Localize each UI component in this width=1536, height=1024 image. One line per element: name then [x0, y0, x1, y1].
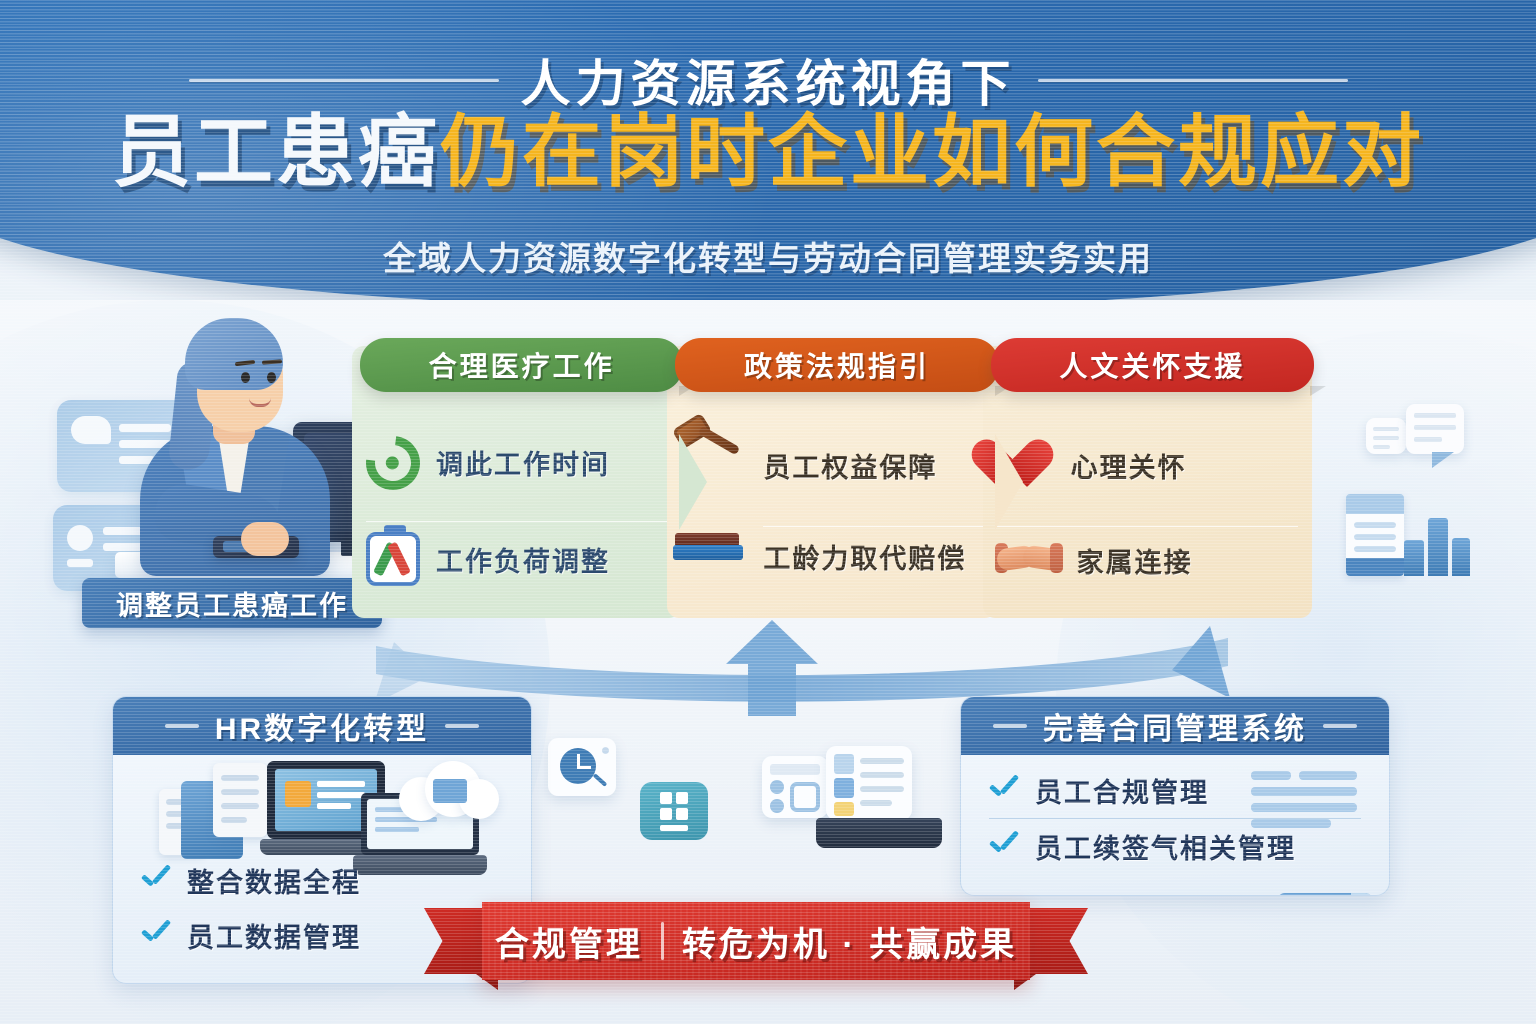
ribbon-separator: [661, 922, 664, 960]
list-item[interactable]: 整合数据全程: [141, 853, 503, 908]
card-row-label: 调此工作时间: [436, 443, 610, 482]
eyebrow-rule-left: [189, 79, 499, 82]
person-eye-right: [267, 372, 276, 383]
panel-header-right: 完善合同管理系统: [961, 697, 1389, 755]
card-title-medical: 合理医疗工作: [360, 338, 683, 392]
card-title-policy: 政策法规指引: [675, 338, 998, 392]
card-row-label: 心理关怀: [1071, 446, 1187, 485]
card-row: 工作负荷调整: [366, 521, 667, 586]
list-item[interactable]: 员工续签气相关管理: [989, 818, 1361, 874]
card-row: 家属连接: [997, 526, 1298, 583]
card-medical-work[interactable]: 合理医疗工作 调此工作时间 工作负荷调整: [352, 346, 681, 618]
ribbon-text-right: 转危为机 · 共赢成果: [682, 917, 1017, 966]
ribbon-tail-right: [1022, 908, 1088, 974]
clipboard-icon: [366, 532, 420, 586]
card-arrow-orange: [995, 434, 1023, 530]
panel-rule-left: [165, 724, 199, 728]
card-row-label: 员工权益保障: [763, 446, 937, 485]
card-arrow-green: [679, 434, 707, 530]
panel-rule-right: [1323, 724, 1357, 728]
page-subtitle: 全域人力资源数字化转型与劳动合同管理实务实用: [0, 232, 1536, 280]
card-row-label: 工作负荷调整: [436, 540, 610, 579]
card-body-policy: 员工权益保障 工龄力取代赔偿: [667, 404, 996, 618]
person-eye-left: [241, 372, 250, 383]
list-item-label: 员工合规管理: [1035, 771, 1209, 810]
panel-contract-system[interactable]: 完善合同管理系统 员工合规管理 员工续签气相关管理: [960, 696, 1390, 896]
bottom-ribbon: 合规管理 转危为机 · 共赢成果: [424, 902, 1088, 980]
panel-rule-right: [445, 724, 479, 728]
clock-search-icon: [548, 738, 616, 796]
list-item-label: 员工数据管理: [187, 916, 361, 955]
books-icon: [673, 532, 743, 560]
eyebrow-rule-right: [1038, 79, 1348, 82]
ribbon-banner: 合规管理 转危为机 · 共赢成果: [482, 902, 1030, 980]
cloud-upload-icon: [389, 759, 509, 823]
poster-header: 人力资源系统视角下 员工患癌仍在岗时企业如何合规应对 全域人力资源数字化转型与劳…: [0, 0, 1536, 300]
card-row-label: 家属连接: [1077, 541, 1193, 580]
card-row: 调此工作时间: [366, 436, 667, 490]
card-policy-guidance[interactable]: 政策法规指引 员工权益保障 工龄力取代赔偿: [667, 346, 996, 618]
ribbon-text-left: 合规管理: [495, 917, 643, 966]
card-row: 员工权益保障: [763, 446, 982, 485]
card-humanistic-care[interactable]: 人文关怀支援 心理关怀 家属连接: [983, 346, 1312, 618]
handshake-icon: [997, 537, 1061, 583]
card-row: 工龄力取代赔偿: [763, 526, 982, 576]
clock-icon: [355, 425, 431, 501]
chat-bubbles-icon: [1366, 418, 1406, 454]
panel-right-checklist: 员工合规管理 员工续签气相关管理: [961, 763, 1389, 874]
list-item-label: 员工续签气相关管理: [1035, 827, 1296, 866]
ribbon-text-row: 合规管理 转危为机 · 共赢成果: [495, 917, 1017, 966]
list-item-label: 整合数据全程: [187, 861, 361, 900]
card-row-label: 工龄力取代赔偿: [763, 537, 966, 576]
eyebrow-text: 人力资源系统视角下: [521, 44, 1016, 116]
card-title-care: 人文关怀支援: [991, 338, 1314, 392]
ribbon-tail-left: [424, 908, 490, 974]
card-row: 心理关怀: [997, 439, 1298, 491]
pillar-cards: 合理医疗工作 调此工作时间 工作负荷调整 政策法规指引: [352, 346, 1312, 618]
chat-and-chart-icons: [1312, 412, 1522, 622]
document-chart-icon: [1346, 494, 1466, 580]
card-body-care: 心理关怀 家属连接: [983, 404, 1312, 618]
employee-label-badge: 调整员工患癌工作: [82, 578, 382, 628]
panel-header-left: HR数字化转型: [113, 697, 531, 755]
document-sheet-secondary-icon: [213, 763, 267, 837]
check-icon: [989, 837, 1019, 857]
check-icon: [141, 926, 171, 946]
floating-icon-cluster: [540, 730, 960, 890]
card-body-medical: 调此工作时间 工作负荷调整: [352, 404, 681, 618]
panel-title-left: HR数字化转型: [215, 704, 429, 748]
laptop-report-icon: [758, 740, 948, 868]
eyebrow-row: 人力资源系统视角下: [0, 44, 1536, 116]
page-title: 员工患癌仍在岗时企业如何合规应对: [0, 112, 1536, 193]
headline-white: 员工患癌: [112, 107, 440, 196]
chat-bubble-large-icon: [1406, 404, 1464, 454]
report-tile-icon: [1277, 893, 1373, 896]
grid-kiosk-icon: [640, 782, 708, 840]
infographic-poster: 人力资源系统视角下 员工患癌仍在岗时企业如何合规应对 全域人力资源数字化转型与劳…: [0, 0, 1536, 1024]
check-icon: [989, 781, 1019, 801]
check-icon: [141, 871, 171, 891]
panel-title-right: 完善合同管理系统: [1043, 704, 1307, 748]
list-item[interactable]: 员工合规管理: [989, 763, 1361, 818]
person-hand: [241, 522, 289, 556]
panel-rule-left: [993, 724, 1027, 728]
headline-gold: 仍在岗时企业如何合规应对: [440, 107, 1424, 196]
